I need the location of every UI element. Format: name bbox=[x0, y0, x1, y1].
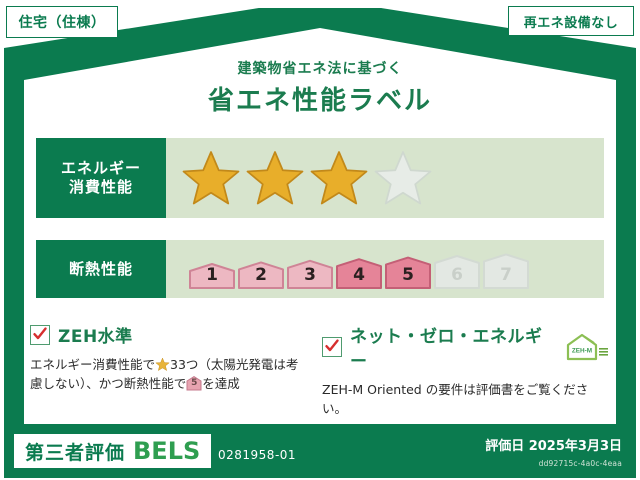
inline-badge-value: 5 bbox=[186, 376, 202, 392]
insulation-label: 断熱性能 bbox=[69, 260, 133, 279]
insulation-badge-value: 1 bbox=[206, 265, 218, 290]
insulation-badge-1: 1 bbox=[188, 248, 236, 290]
zeh-body-part3: を達成 bbox=[202, 376, 240, 391]
nze-note-body: ZEH-M Oriented の要件は評価書をご覧ください。 bbox=[322, 380, 612, 419]
zeh-standard-note: ZEH水準 エネルギー消費性能で33つ（太陽光発電は考慮しない）、かつ断熱性能で… bbox=[30, 322, 302, 394]
insulation-badge-5: 5 bbox=[384, 248, 432, 290]
zeh-body-part1: エネルギー消費性能で bbox=[30, 357, 155, 372]
insulation-badge-value: 7 bbox=[500, 265, 512, 290]
nze-note-head: ネット・ゼロ・エネルギー ZEH-M bbox=[322, 322, 612, 372]
inline-star-icon bbox=[155, 357, 170, 372]
insulation-badge-4: 4 bbox=[335, 248, 383, 290]
document-hash: dd92715c-4a0c-4eaa bbox=[539, 459, 622, 468]
renewable-energy-tag: 再エネ設備なし bbox=[508, 6, 634, 36]
energy-performance-label: 住宅（住棟） 再エネ設備なし 建築物省エネ法に基づく 省エネ性能ラベル エネルギ… bbox=[0, 0, 640, 480]
zeh-m-house-icon: ZEH-M bbox=[564, 332, 612, 362]
building-type-tag: 住宅（住棟） bbox=[6, 6, 118, 38]
energy-performance-row: エネルギー 消費性能 bbox=[36, 138, 604, 218]
net-zero-energy-note: ネット・ゼロ・エネルギー ZEH-M ZEH-M Oriented の要件は評価… bbox=[322, 322, 612, 419]
insulation-performance-value: 1234567 bbox=[166, 240, 604, 298]
zeh-m-logo: ZEH-M bbox=[564, 332, 612, 362]
insulation-badge-value: 6 bbox=[451, 265, 463, 290]
certificate-number: 0281958-01 bbox=[218, 448, 296, 462]
zeh-note-title: ZEH水準 bbox=[58, 322, 133, 347]
nze-checkbox[interactable] bbox=[322, 337, 342, 357]
zeh-m-logo-text: ZEH-M bbox=[572, 347, 592, 354]
insulation-badge-3: 3 bbox=[286, 248, 334, 290]
star-empty-icon bbox=[372, 148, 434, 208]
evaluation-date: 評価日 2025年3月3日 bbox=[485, 435, 622, 454]
zeh-note-body: エネルギー消費性能で33つ（太陽光発電は考慮しない）、かつ断熱性能で5を達成 bbox=[30, 355, 302, 394]
inline-grade-badge: 5 bbox=[186, 376, 202, 391]
bels-logo-text: BELS bbox=[133, 437, 200, 465]
insulation-performance-row: 断熱性能 1234567 bbox=[36, 240, 604, 298]
insulation-badge-value: 2 bbox=[255, 265, 267, 290]
label-subtitle: 建築物省エネ法に基づく bbox=[0, 58, 640, 78]
insulation-badge-value: 4 bbox=[353, 265, 365, 290]
check-icon bbox=[324, 338, 340, 354]
insulation-grade-badges: 1234567 bbox=[188, 248, 530, 290]
third-party-label: 第三者評価 bbox=[25, 438, 125, 465]
insulation-badge-value: 3 bbox=[304, 265, 316, 290]
label-title: 省エネ性能ラベル bbox=[0, 80, 640, 117]
star-filled-icon bbox=[180, 148, 242, 208]
insulation-badge-2: 2 bbox=[237, 248, 285, 290]
nze-note-title: ネット・ゼロ・エネルギー bbox=[350, 322, 552, 372]
zeh-note-head: ZEH水準 bbox=[30, 322, 302, 347]
third-party-evaluation-box: 第三者評価 BELS bbox=[14, 434, 211, 468]
star-filled-icon bbox=[308, 148, 370, 208]
star-filled-icon bbox=[244, 148, 306, 208]
zeh-inline-star-count: 3 bbox=[170, 357, 178, 372]
insulation-badge-7: 7 bbox=[482, 248, 530, 290]
energy-label-line2: 消費性能 bbox=[69, 178, 133, 197]
insulation-badge-6: 6 bbox=[433, 248, 481, 290]
check-icon bbox=[32, 326, 48, 342]
energy-label-line1: エネルギー bbox=[61, 159, 141, 178]
energy-performance-key: エネルギー 消費性能 bbox=[36, 138, 166, 218]
energy-performance-value bbox=[166, 138, 604, 218]
insulation-badge-value: 5 bbox=[402, 265, 414, 290]
insulation-performance-key: 断熱性能 bbox=[36, 240, 166, 298]
star-rating bbox=[180, 148, 434, 208]
zeh-checkbox[interactable] bbox=[30, 325, 50, 345]
